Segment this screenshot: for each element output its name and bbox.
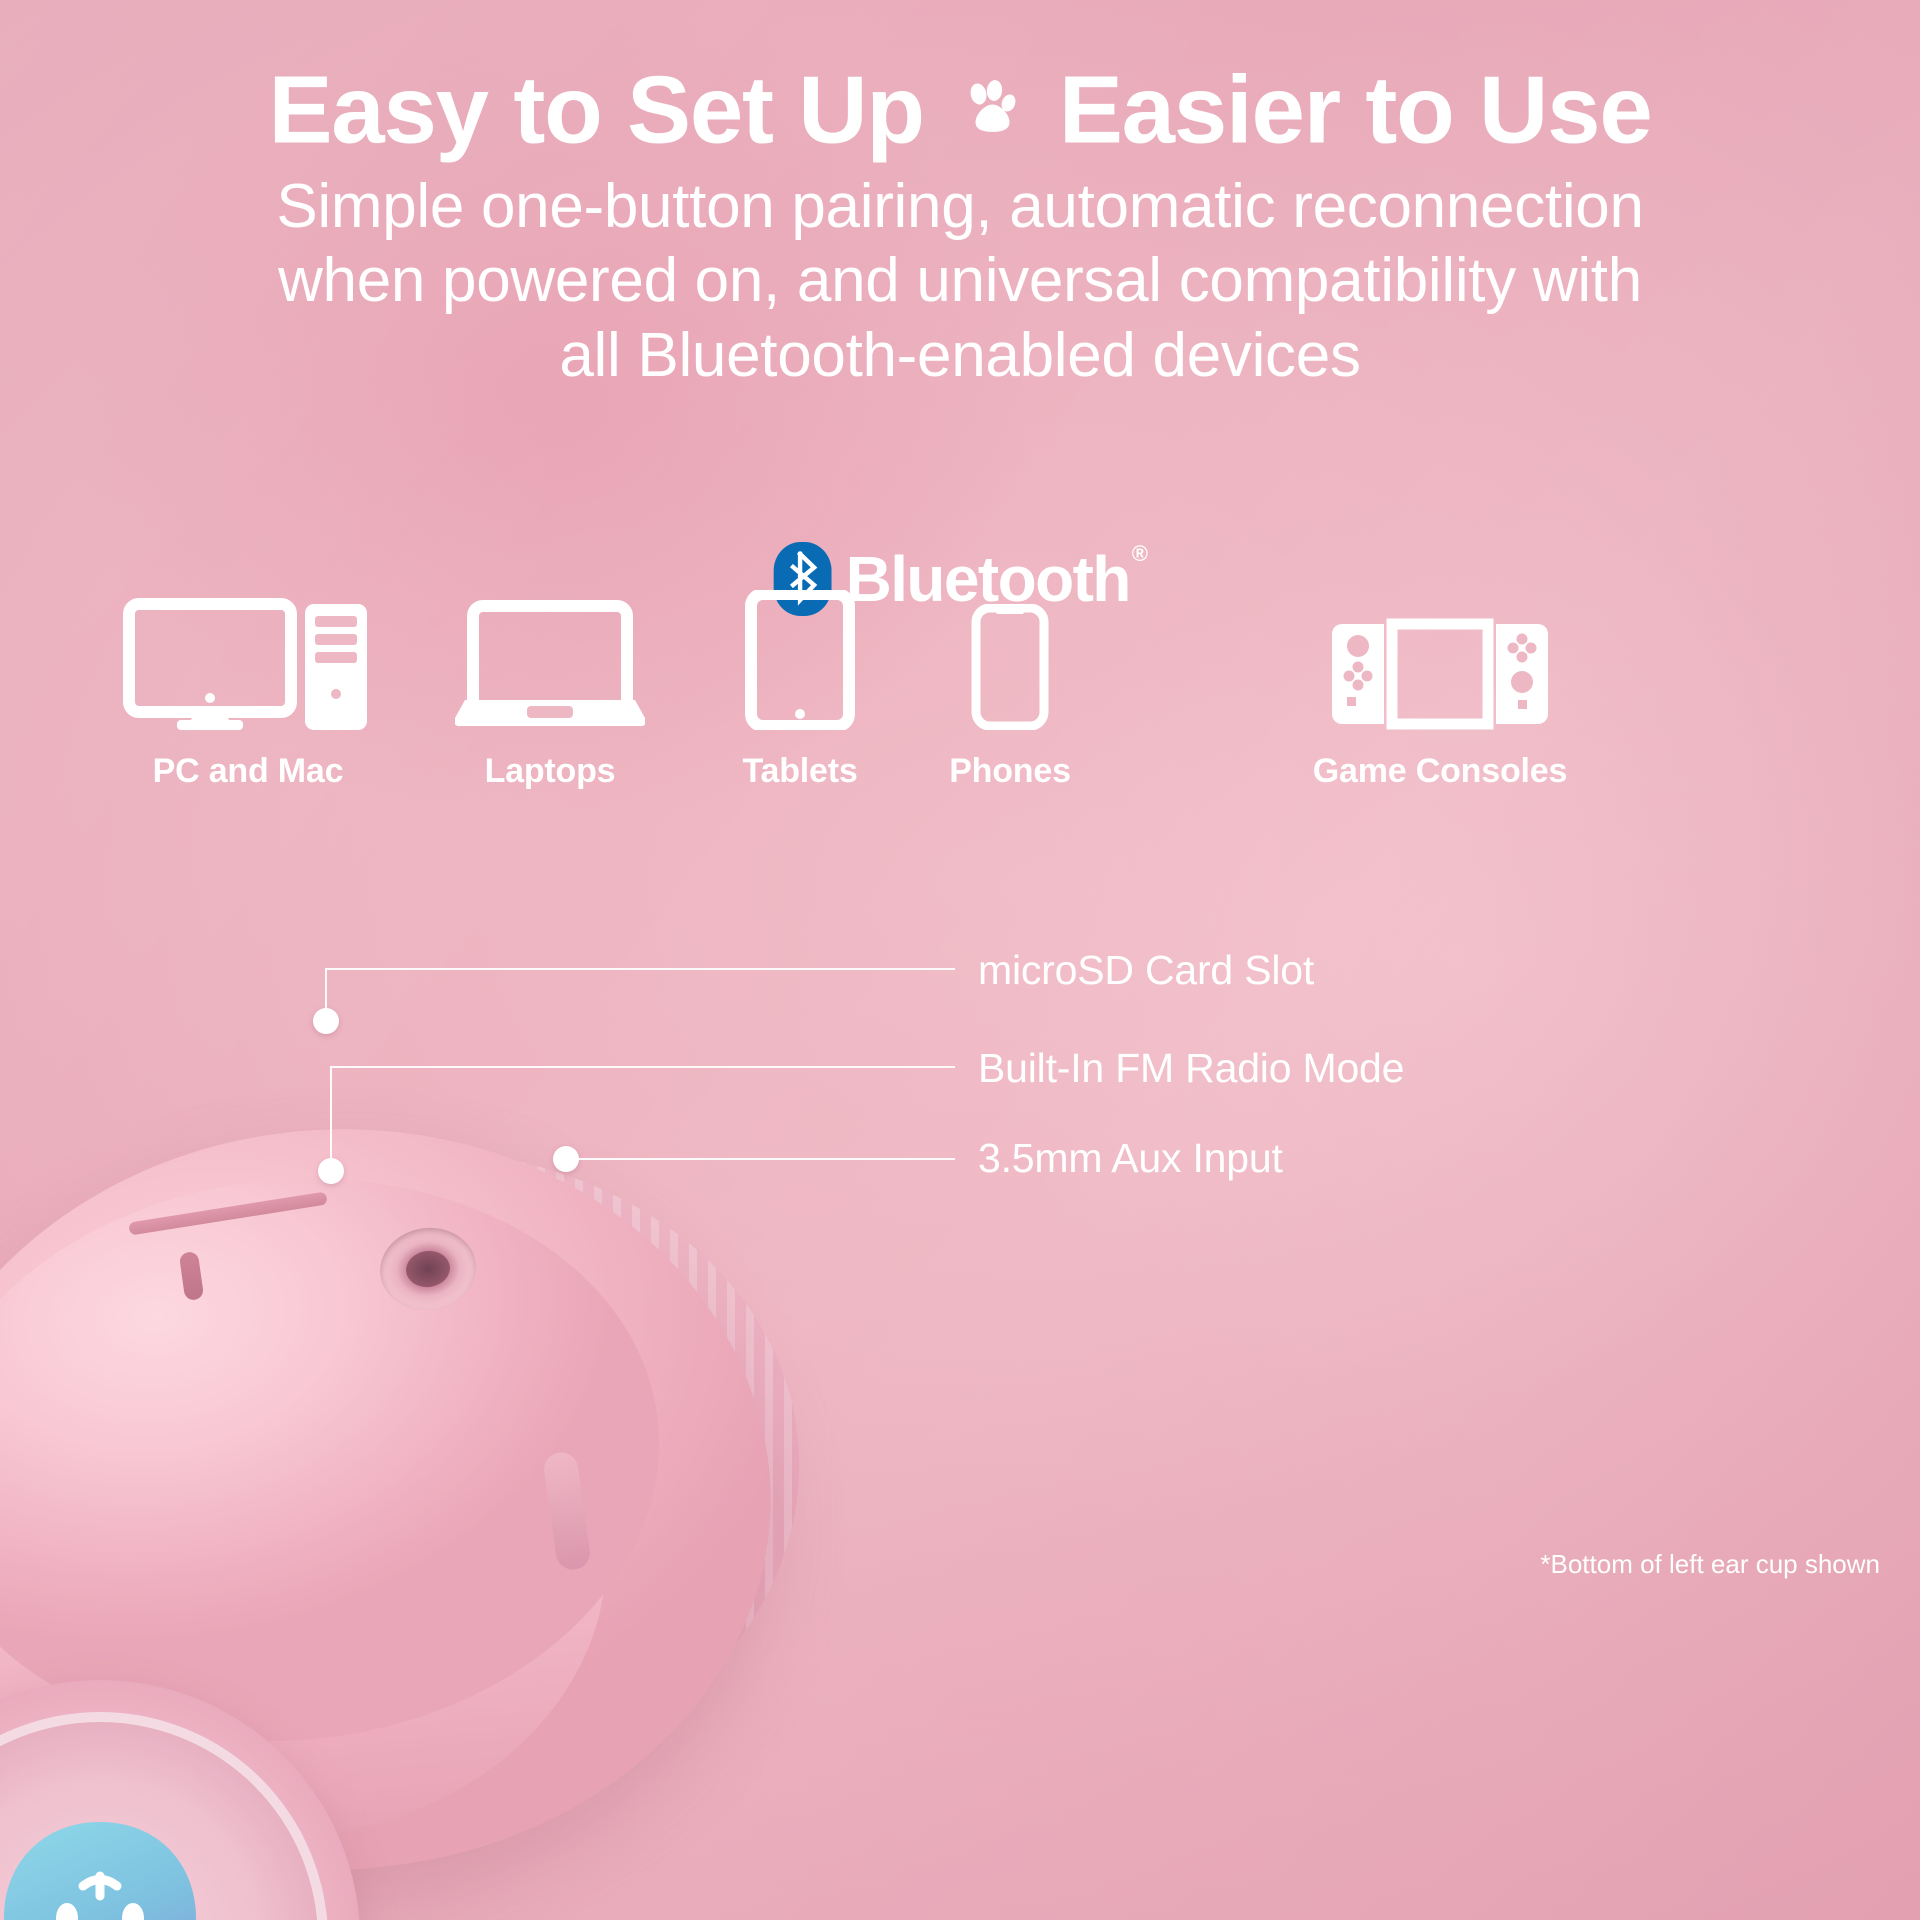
- callout-leader-vertical-fm-radio: [330, 1066, 332, 1170]
- callout-leader-fm-radio: [330, 1066, 955, 1068]
- feature-callouts: microSD Card Slot Built-In FM Radio Mode…: [0, 0, 1920, 1920]
- callout-leader-vertical-microsd: [325, 968, 327, 1020]
- callout-label-fm-radio-mode: Built-In FM Radio Mode: [978, 1048, 1404, 1089]
- callout-leader-microsd: [325, 968, 955, 970]
- footnote: *Bottom of left ear cup shown: [1540, 1549, 1880, 1580]
- callout-label-aux-input: 3.5mm Aux Input: [978, 1138, 1283, 1179]
- callout-leader-aux-input: [565, 1158, 955, 1160]
- product-feature-graphic: Easy to Set Up Easier to Use Simple one-…: [0, 0, 1920, 1920]
- callout-label-microsd-card-slot: microSD Card Slot: [978, 950, 1314, 991]
